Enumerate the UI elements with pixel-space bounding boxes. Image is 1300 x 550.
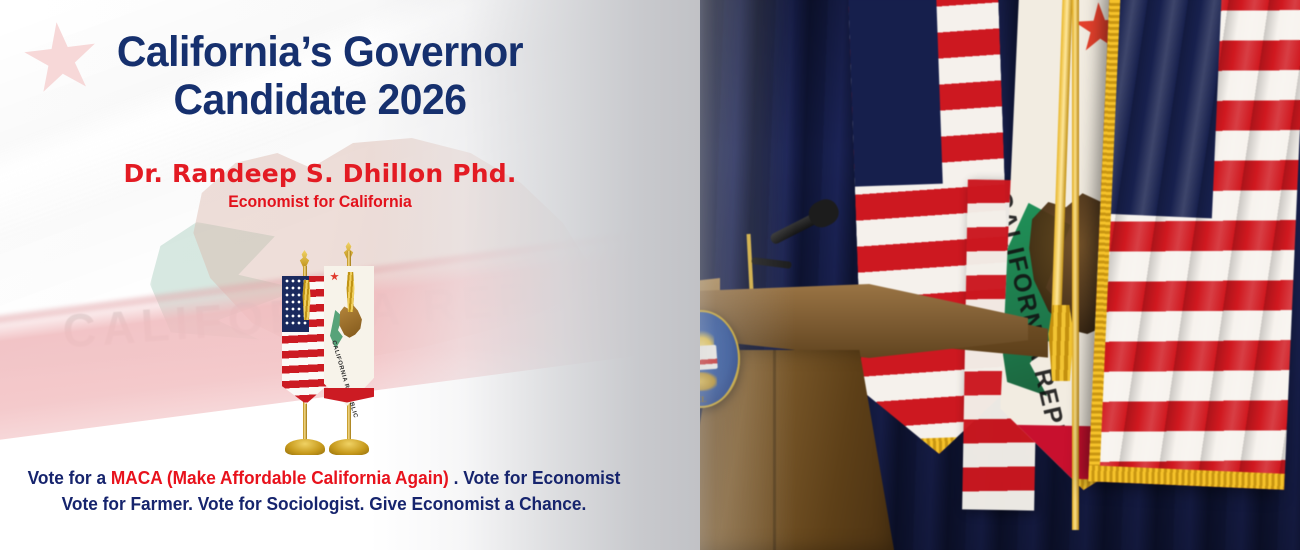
headline-line-1: California’s Governor — [117, 28, 523, 76]
desk-california-flag: CALIFORNIA REPUBLIC — [318, 240, 374, 455]
slogan-l2-sociologist: Sociologist — [267, 494, 360, 514]
slogan-l2-p5: . Give — [360, 494, 412, 514]
desk-ca-flag-base — [329, 439, 369, 455]
slogan-l2-economist: Economist — [412, 494, 500, 514]
slogan-l1-p1: Vote for a — [28, 468, 111, 488]
slogan-l2-p7: a — [500, 494, 519, 514]
page-title: California’s Governor Candidate 2026 — [16, 28, 624, 124]
slogan-l1-maca: MACA (Make Affordable California Again) — [111, 468, 449, 488]
candidate-name: Dr. Randeep S. Dhillon Phd. — [0, 159, 640, 188]
slogan-l2-chance: Chance — [519, 494, 581, 514]
campaign-slogan: Vote for a MACA (Make Affordable Califor… — [13, 466, 635, 517]
slogan-l1-p3: . Vote for — [449, 468, 532, 488]
slogan-l2-p1: Vote for — [62, 494, 131, 514]
headline-line-2: Candidate 2026 — [16, 76, 624, 124]
slogan-line-2: Vote for Farmer. Vote for Sociologist. G… — [13, 492, 635, 518]
slogan-l1-economist: Economist — [532, 468, 620, 488]
slogan-line-1: Vote for a MACA (Make Affordable Califor… — [13, 466, 635, 492]
banner-content: California’s Governor Candidate 2026 Dr.… — [0, 0, 1300, 550]
slogan-l2-p9: . — [582, 494, 587, 514]
desk-flag-pair: CALIFORNIA REPUBLIC — [268, 240, 378, 455]
candidate-tagline: Economist for California — [22, 192, 617, 212]
slogan-l2-p3: . Vote for — [188, 494, 266, 514]
slogan-l2-farmer: Farmer — [130, 494, 188, 514]
campaign-banner: CALIFORNIA REPUBLIC — [0, 0, 1300, 550]
